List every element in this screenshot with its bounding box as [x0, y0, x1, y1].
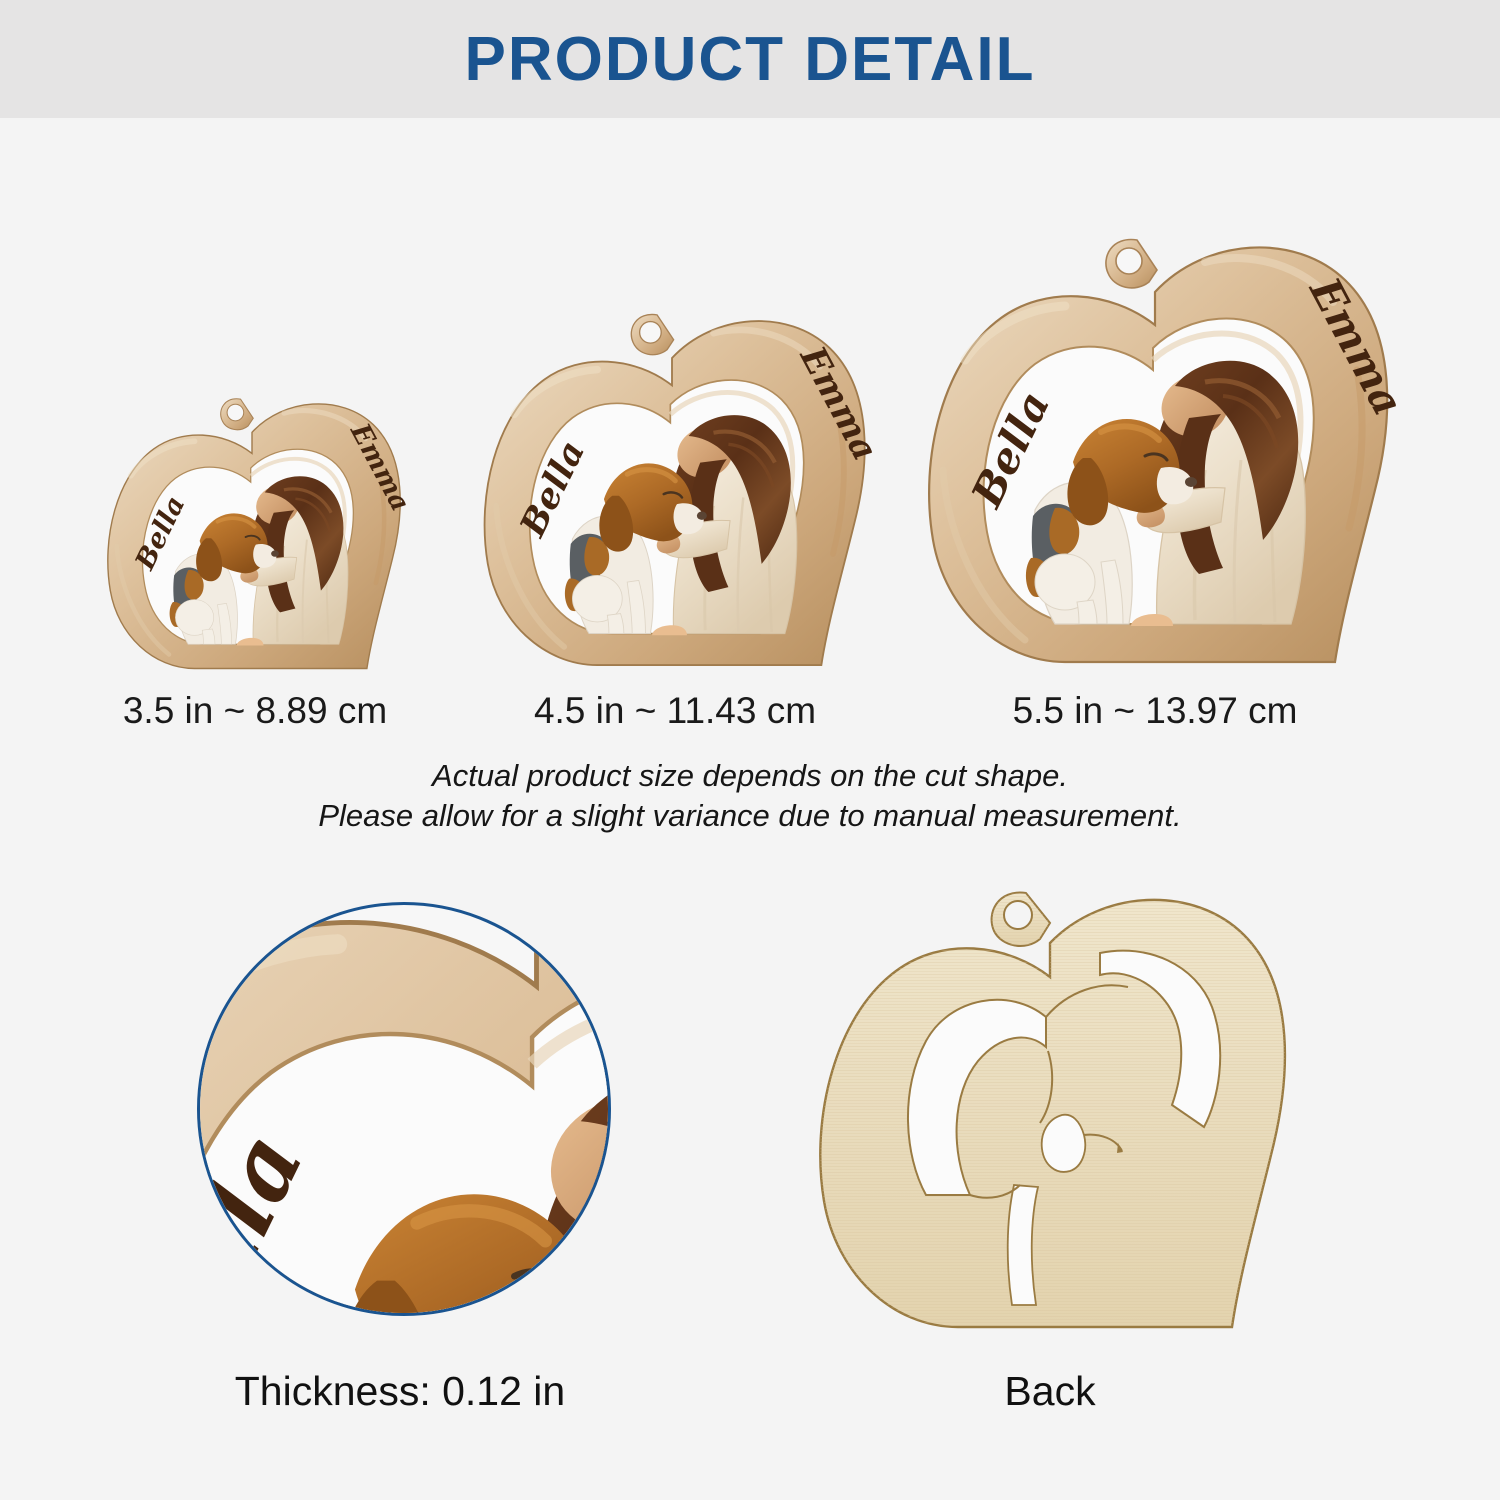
size-label-large: 5.5 in ~ 13.97 cm: [900, 690, 1410, 732]
ornament-svg-large: [905, 210, 1405, 680]
header-band: PRODUCT DETAIL: [0, 0, 1500, 118]
back-view-svg: [800, 865, 1300, 1345]
thickness-label: Thickness: 0.12 in: [140, 1368, 660, 1415]
ornament-svg-medium: [462, 290, 882, 680]
ornament-size-small[interactable]: [62, 380, 442, 680]
back-label: Back: [800, 1368, 1300, 1415]
size-label-medium: 4.5 in ~ 11.43 cm: [460, 690, 890, 732]
thickness-closeup-svg: [197, 902, 611, 1316]
size-label-small: 3.5 in ~ 8.89 cm: [60, 690, 450, 732]
ornament-svg-small: [62, 380, 442, 680]
disclaimer-line-1: Actual product size depends on the cut s…: [0, 756, 1500, 796]
ornament-size-medium[interactable]: [462, 290, 882, 680]
back-view-figure[interactable]: [800, 865, 1300, 1345]
page-title: PRODUCT DETAIL: [464, 24, 1035, 95]
size-comparison-row: Bella Emma: [0, 180, 1500, 680]
size-disclaimer: Actual product size depends on the cut s…: [0, 756, 1500, 835]
thickness-closeup-circle[interactable]: [197, 902, 611, 1316]
disclaimer-line-2: Please allow for a slight variance due t…: [0, 796, 1500, 836]
ornament-size-large[interactable]: [905, 210, 1405, 680]
size-label-row: 3.5 in ~ 8.89 cm 4.5 in ~ 11.43 cm 5.5 i…: [0, 690, 1500, 740]
